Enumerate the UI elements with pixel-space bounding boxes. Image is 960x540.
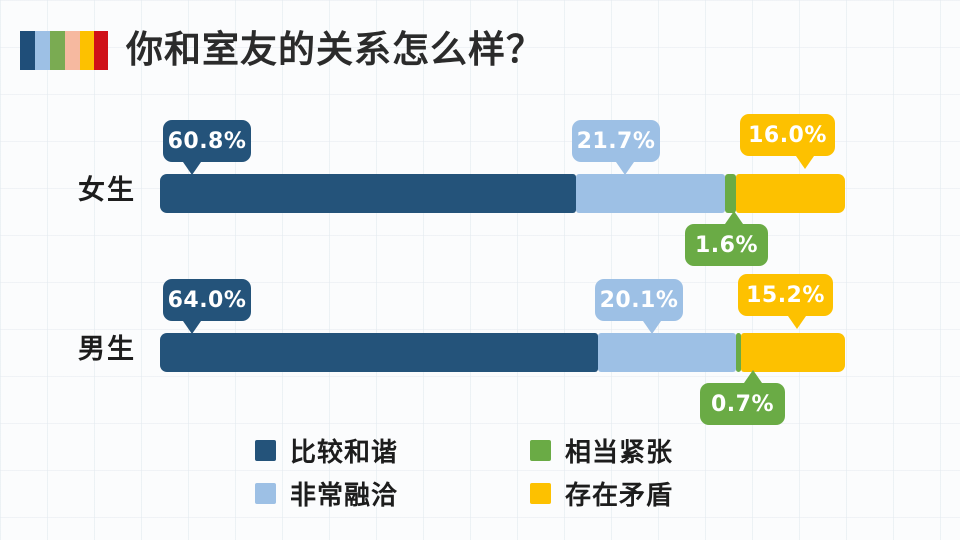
legend-swatch-icon — [530, 440, 551, 461]
callout-tail-icon — [725, 211, 743, 224]
chart-legend: 比较和谐 相当紧张 非常融洽 存在矛盾 — [0, 420, 960, 516]
stacked-bar-female — [160, 174, 845, 213]
legend-label: 比较和谐 — [290, 432, 398, 469]
legend-item-harmonious[interactable]: 比较和谐 — [255, 432, 398, 469]
value-callout-label: 21.7% — [577, 129, 656, 154]
value-callout-label: 1.6% — [695, 233, 758, 258]
value-callout-male-quite-tense: 0.7% — [700, 383, 785, 425]
value-callout-male-very-close: 20.1% — [595, 279, 683, 321]
value-callout-female-quite-tense: 1.6% — [685, 224, 768, 266]
value-callout-label: 20.1% — [600, 288, 679, 313]
bar-segment-male-has-conflict[interactable] — [741, 333, 845, 372]
value-callout-male-harmonious: 64.0% — [163, 279, 251, 321]
callout-tail-icon — [616, 162, 634, 175]
stacked-bar-male — [160, 333, 845, 372]
category-label-female: 女生 — [78, 168, 136, 207]
callout-tail-icon — [183, 321, 201, 334]
bar-segment-male-very-close[interactable] — [598, 333, 736, 372]
callout-tail-icon — [744, 370, 762, 383]
logo-stripe-2 — [35, 31, 50, 70]
legend-label: 非常融洽 — [290, 475, 398, 512]
value-callout-label: 0.7% — [711, 392, 774, 417]
bar-segment-female-harmonious[interactable] — [160, 174, 576, 213]
category-label-male: 男生 — [78, 327, 136, 366]
bar-segment-male-harmonious[interactable] — [160, 333, 598, 372]
legend-swatch-icon — [530, 483, 551, 504]
page-title: 你和室友的关系怎么样？ — [126, 22, 544, 78]
logo-stripe-1 — [20, 31, 35, 70]
legend-label: 相当紧张 — [565, 432, 673, 469]
bar-segment-female-has-conflict[interactable] — [736, 174, 845, 213]
legend-item-quite-tense[interactable]: 相当紧张 — [530, 432, 673, 469]
legend-label: 存在矛盾 — [565, 475, 673, 512]
callout-tail-icon — [788, 316, 806, 329]
value-callout-male-has-conflict: 15.2% — [738, 274, 833, 316]
value-callout-label: 64.0% — [168, 288, 247, 313]
value-callout-label: 15.2% — [746, 283, 825, 308]
legend-swatch-icon — [255, 440, 276, 461]
value-callout-label: 60.8% — [168, 129, 247, 154]
callout-tail-icon — [796, 156, 814, 169]
logo-stripe-6 — [94, 31, 108, 70]
logo-stripe-5 — [80, 31, 94, 70]
slide-canvas: 你和室友的关系怎么样？ 女生 60.8% 21.7% 1.6% 16.0% — [0, 0, 960, 540]
value-callout-female-has-conflict: 16.0% — [740, 114, 835, 156]
legend-item-has-conflict[interactable]: 存在矛盾 — [530, 475, 673, 512]
callout-tail-icon — [643, 321, 661, 334]
brand-stripes-logo-icon — [20, 31, 108, 70]
callout-tail-icon — [183, 162, 201, 175]
legend-swatch-icon — [255, 483, 276, 504]
value-callout-label: 16.0% — [748, 123, 827, 148]
bar-segment-female-very-close[interactable] — [576, 174, 725, 213]
value-callout-female-very-close: 21.7% — [572, 120, 660, 162]
value-callout-female-harmonious: 60.8% — [163, 120, 251, 162]
logo-stripe-3 — [50, 31, 65, 70]
chart-header: 你和室友的关系怎么样？ — [0, 0, 960, 96]
bar-segment-female-quite-tense[interactable] — [725, 174, 736, 213]
legend-item-very-close[interactable]: 非常融洽 — [255, 475, 398, 512]
logo-stripe-4 — [65, 31, 80, 70]
chart-plot-area: 女生 60.8% 21.7% 1.6% 16.0% 男生 — [0, 96, 960, 416]
